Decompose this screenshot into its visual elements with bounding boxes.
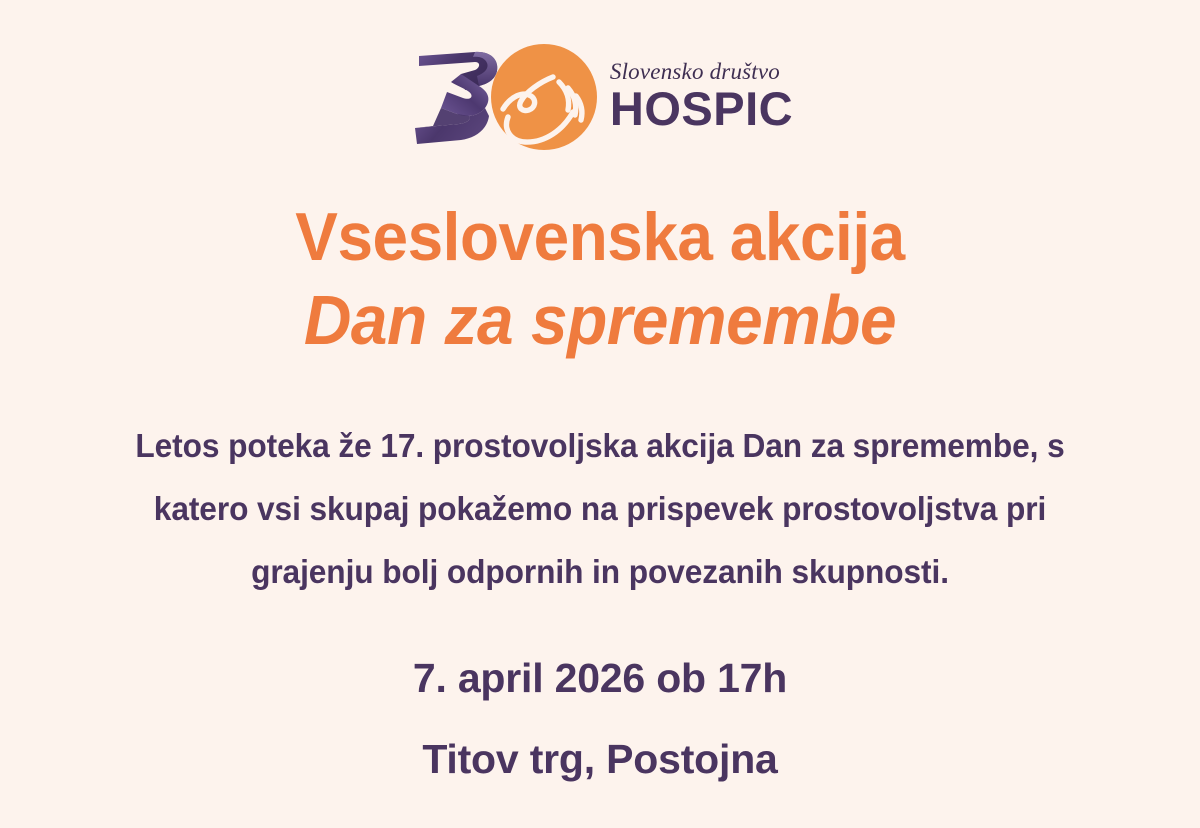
hospic-logo: Slovensko društvo HOSPIC	[407, 38, 793, 158]
organisation-name: HOSPIC	[610, 84, 793, 133]
organisation-kicker: Slovensko društvo	[610, 59, 780, 84]
headline-line-1: Vseslovenska akcija	[36, 196, 1164, 278]
description-line-3: grajenju bolj odpornih in povezanih skup…	[115, 540, 1085, 603]
event-location: Titov trg, Postojna	[0, 734, 1200, 784]
logo-wordmark: Slovensko društvo HOSPIC	[610, 59, 793, 137]
headline-line-2: Dan za spremembe	[36, 278, 1164, 362]
description-line-1: Letos poteka že 17. prostovoljska akcija…	[115, 414, 1085, 477]
event-poster: Slovensko društvo HOSPIC Vseslovenska ak…	[0, 0, 1200, 828]
anniversary-30-logo-icon	[407, 38, 602, 158]
event-details: 7. april 2026 ob 17h Titov trg, Postojna	[0, 653, 1200, 784]
description: Letos poteka že 17. prostovoljska akcija…	[95, 414, 1105, 603]
description-line-2: katero vsi skupaj pokažemo na prispevek …	[115, 477, 1085, 540]
event-date: 7. april 2026 ob 17h	[0, 653, 1200, 703]
headline: Vseslovenska akcija Dan za spremembe	[0, 196, 1200, 362]
